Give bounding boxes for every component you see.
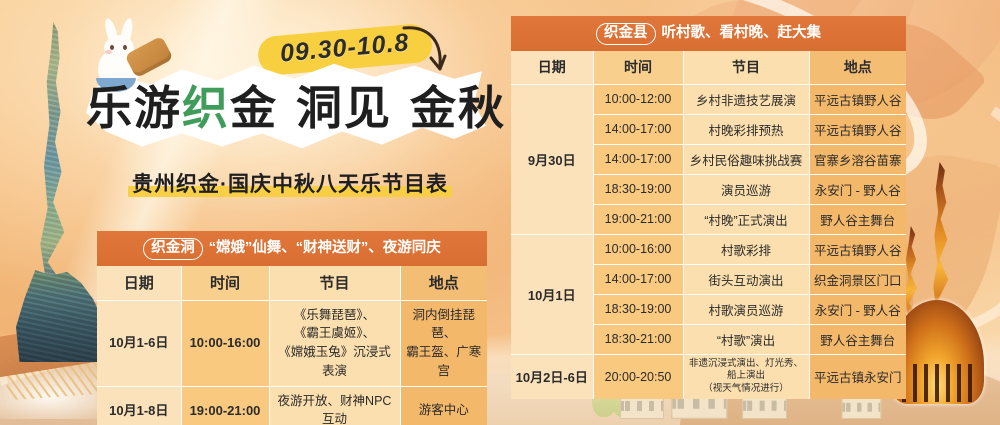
- column-header-date: 日期: [97, 266, 181, 301]
- cell-program: 村歌彩排: [683, 234, 809, 264]
- column-header-time: 时间: [181, 266, 269, 301]
- cell-time: 14:00-17:00: [593, 114, 683, 144]
- column-header-time: 时间: [593, 51, 683, 85]
- page-title: 乐游织金 洞见 金秋: [86, 72, 486, 138]
- table-header-row: 日期 时间 节目 地点: [97, 266, 487, 301]
- table-row: 9月30日10:00-12:00乡村非遗技艺展演平远古镇野人谷: [511, 84, 906, 114]
- cell-program: 乡村非遗技艺展演: [683, 84, 809, 114]
- cell-time: 10:00-12:00: [593, 84, 683, 114]
- cell-program: 街头互动演出: [683, 264, 809, 294]
- cell-date: 10月1日: [511, 234, 593, 354]
- table-row: 10月2日-6日20:00-20:50非遗沉浸式演出、灯光秀、船上演出（视天气情…: [511, 354, 906, 399]
- caption-badge: 织金县: [596, 23, 656, 45]
- column-header-location: 地点: [400, 266, 487, 301]
- title-part-3: 金 洞见 金秋: [230, 81, 506, 135]
- title-part-1: 乐游: [86, 81, 182, 135]
- cell-program: 《乐舞琵琶》、《霸王虞姬》、《嫦娥玉兔》沉浸式表演: [269, 300, 400, 386]
- caption-text: “嫦娥”仙舞、“财神送财”、夜游同庆: [209, 240, 441, 256]
- cell-location: 洞内倒挂琵琶、霸王盔、广寒宫: [400, 300, 487, 386]
- column-header-location: 地点: [809, 51, 906, 85]
- cell-date: 10月1-8日: [97, 386, 181, 425]
- table-caption-cave: 织金洞“嫦娥”仙舞、“财神送财”、夜游同庆: [97, 231, 487, 266]
- cell-location: 平远古镇野人谷: [809, 234, 906, 264]
- cell-location: 永安门 - 野人谷: [809, 294, 906, 324]
- column-header-program: 节目: [269, 266, 400, 301]
- cell-location: 织金洞景区门口: [809, 264, 906, 294]
- schedule-table-county: 织金县听村歌、看村晚、赶大集 日期 时间 节目 地点 9月30日10:00-12…: [511, 16, 906, 399]
- cell-time: 19:00-21:00: [593, 204, 683, 234]
- cell-program: 非遗沉浸式演出、灯光秀、船上演出（视天气情况进行）: [683, 354, 809, 399]
- table-row: 10月1-6日10:00-16:00《乐舞琵琶》、《霸王虞姬》、《嫦娥玉兔》沉浸…: [97, 300, 487, 386]
- cell-time: 19:00-21:00: [181, 386, 269, 425]
- cell-time: 18:30-19:00: [593, 294, 683, 324]
- cell-location: 平远古镇永安门: [809, 354, 906, 399]
- cell-time: 18:30-21:00: [593, 324, 683, 354]
- schedule-table-cave: 织金洞“嫦娥”仙舞、“财神送财”、夜游同庆 日期 时间 节目 地点 10月1-6…: [97, 231, 487, 425]
- table-caption-county: 织金县听村歌、看村晚、赶大集: [511, 16, 906, 51]
- cell-time: 14:00-17:00: [593, 144, 683, 174]
- cell-location: 官寨乡溶谷苗寨: [809, 144, 906, 174]
- cell-date: 10月1-6日: [97, 300, 181, 386]
- caption-badge: 织金洞: [143, 238, 203, 260]
- cell-program: 演员巡游: [683, 174, 809, 204]
- cell-time: 20:00-20:50: [593, 354, 683, 399]
- cell-program: 村晚彩排预热: [683, 114, 809, 144]
- title-part-2: 织: [182, 81, 230, 135]
- cell-date: 9月30日: [511, 84, 593, 234]
- table-header-row: 日期 时间 节目 地点: [511, 51, 906, 85]
- cell-program: 乡村民俗趣味挑战赛: [683, 144, 809, 174]
- cell-program: 夜游开放、财神NPC互动: [269, 386, 400, 425]
- cell-location: 平远古镇野人谷: [809, 84, 906, 114]
- cell-time: 10:00-16:00: [593, 234, 683, 264]
- cell-program: “村歌”演出: [683, 324, 809, 354]
- cell-location: 平远古镇野人谷: [809, 114, 906, 144]
- cell-time: 10:00-16:00: [181, 300, 269, 386]
- cell-program: 村歌演员巡游: [683, 294, 809, 324]
- table-row: 10月1日10:00-16:00村歌彩排平远古镇野人谷: [511, 234, 906, 264]
- cell-time: 18:30-19:00: [593, 174, 683, 204]
- cell-location: 永安门 - 野人谷: [809, 174, 906, 204]
- table-county: 日期 时间 节目 地点 9月30日10:00-12:00乡村非遗技艺展演平远古镇…: [511, 51, 906, 399]
- cell-time: 14:00-17:00: [593, 264, 683, 294]
- caption-text: 听村歌、看村晚、赶大集: [662, 25, 822, 41]
- cell-location: 野人谷主舞台: [809, 324, 906, 354]
- table-body-county: 9月30日10:00-12:00乡村非遗技艺展演平远古镇野人谷14:00-17:…: [511, 84, 906, 399]
- cell-date: 10月2日-6日: [511, 354, 593, 399]
- table-row: 10月1-8日19:00-21:00夜游开放、财神NPC互动游客中心: [97, 386, 487, 425]
- table-cave: 日期 时间 节目 地点 10月1-6日10:00-16:00《乐舞琵琶》、《霸王…: [97, 266, 487, 425]
- page-subtitle: 贵州织金·国庆中秋八天乐节目表: [120, 168, 460, 198]
- column-header-program: 节目: [683, 51, 809, 85]
- wheat-icon: [5, 348, 104, 401]
- cell-program: “村晚”正式演出: [683, 204, 809, 234]
- table-body-cave: 10月1-6日10:00-16:00《乐舞琵琶》、《霸王虞姬》、《嫦娥玉兔》沉浸…: [97, 300, 487, 425]
- cell-location: 野人谷主舞台: [809, 204, 906, 234]
- cell-location: 游客中心: [400, 386, 487, 425]
- festival-poster: 09.30-10.8 乐游织金 洞见 金秋 贵州织金·国庆中秋八天乐节目表 织金…: [0, 0, 1000, 425]
- column-header-date: 日期: [511, 51, 593, 85]
